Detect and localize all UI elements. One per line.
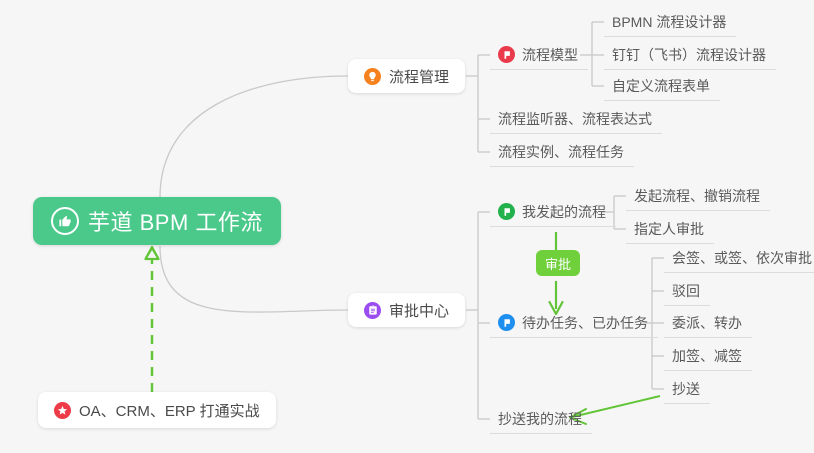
node-label: 流程监听器、流程表达式 — [498, 109, 652, 129]
flag-icon — [498, 203, 515, 220]
node-listener-expression[interactable]: 流程监听器、流程表达式 — [490, 104, 662, 134]
node-label: BPMN 流程设计器 — [612, 12, 726, 32]
node-countersign[interactable]: 会签、或签、依次审批 — [664, 243, 814, 273]
node-label: 流程实例、流程任务 — [498, 142, 624, 162]
node-process-model[interactable]: 流程模型 — [490, 40, 588, 70]
node-custom-form[interactable]: 自定义流程表单 — [604, 71, 720, 101]
node-dingtalk-designer[interactable]: 钉钉（飞书）流程设计器 — [604, 40, 776, 70]
lightbulb-icon — [364, 68, 381, 85]
branch-process-management[interactable]: 流程管理 — [348, 59, 465, 93]
node-label: 会签、或签、依次审批 — [672, 248, 812, 268]
root-label: 芋道 BPM 工作流 — [88, 205, 263, 237]
node-cc[interactable]: 抄送 — [664, 374, 710, 404]
node-label: 加签、减签 — [672, 346, 742, 366]
branch-label: 流程管理 — [389, 66, 449, 87]
node-add-remove-sign[interactable]: 加签、减签 — [664, 341, 752, 371]
node-bpmn-designer[interactable]: BPMN 流程设计器 — [604, 7, 736, 37]
node-label: 发起流程、撤销流程 — [634, 186, 760, 206]
mindmap-canvas: 芋道 BPM 工作流 流程管理 流程模型 BPMN 流程设计器 钉钉（飞书）流程… — [0, 0, 814, 453]
node-start-cancel-process[interactable]: 发起流程、撤销流程 — [626, 181, 770, 211]
node-todo-done-tasks[interactable]: 待办任务、已办任务 — [490, 308, 658, 338]
node-label: 钉钉（飞书）流程设计器 — [612, 45, 766, 65]
star-icon — [54, 402, 71, 419]
dashed-arrow-to-root — [146, 247, 159, 392]
node-instance-task[interactable]: 流程实例、流程任务 — [490, 137, 634, 167]
node-label: 委派、转办 — [672, 313, 742, 333]
node-label: 我发起的流程 — [522, 202, 606, 222]
bottom-note-label: OA、CRM、ERP 打通实战 — [79, 400, 260, 421]
node-label: 自定义流程表单 — [612, 76, 710, 96]
approval-badge-label: 审批 — [545, 254, 571, 273]
node-label: 待办任务、已办任务 — [522, 313, 648, 333]
node-label: 流程模型 — [522, 45, 578, 65]
branch-label: 审批中心 — [389, 300, 449, 321]
bottom-note-card[interactable]: OA、CRM、ERP 打通实战 — [38, 392, 276, 428]
node-my-initiated[interactable]: 我发起的流程 — [490, 197, 616, 227]
node-cc-to-me[interactable]: 抄送我的流程 — [490, 404, 592, 434]
node-delegate-transfer[interactable]: 委派、转办 — [664, 308, 752, 338]
thumbs-up-icon — [51, 207, 79, 235]
approval-badge: 审批 — [536, 250, 580, 276]
branch-approval-center[interactable]: 审批中心 — [348, 293, 465, 327]
root-node[interactable]: 芋道 BPM 工作流 — [33, 197, 281, 245]
node-reject[interactable]: 驳回 — [664, 276, 710, 306]
node-label: 指定人审批 — [634, 219, 704, 239]
clipboard-icon — [364, 302, 381, 319]
node-label: 驳回 — [672, 281, 700, 301]
flag-icon — [498, 314, 515, 331]
flag-icon — [498, 46, 515, 63]
node-assignee-approval[interactable]: 指定人审批 — [626, 214, 714, 244]
node-label: 抄送 — [672, 379, 700, 399]
node-label: 抄送我的流程 — [498, 409, 582, 429]
